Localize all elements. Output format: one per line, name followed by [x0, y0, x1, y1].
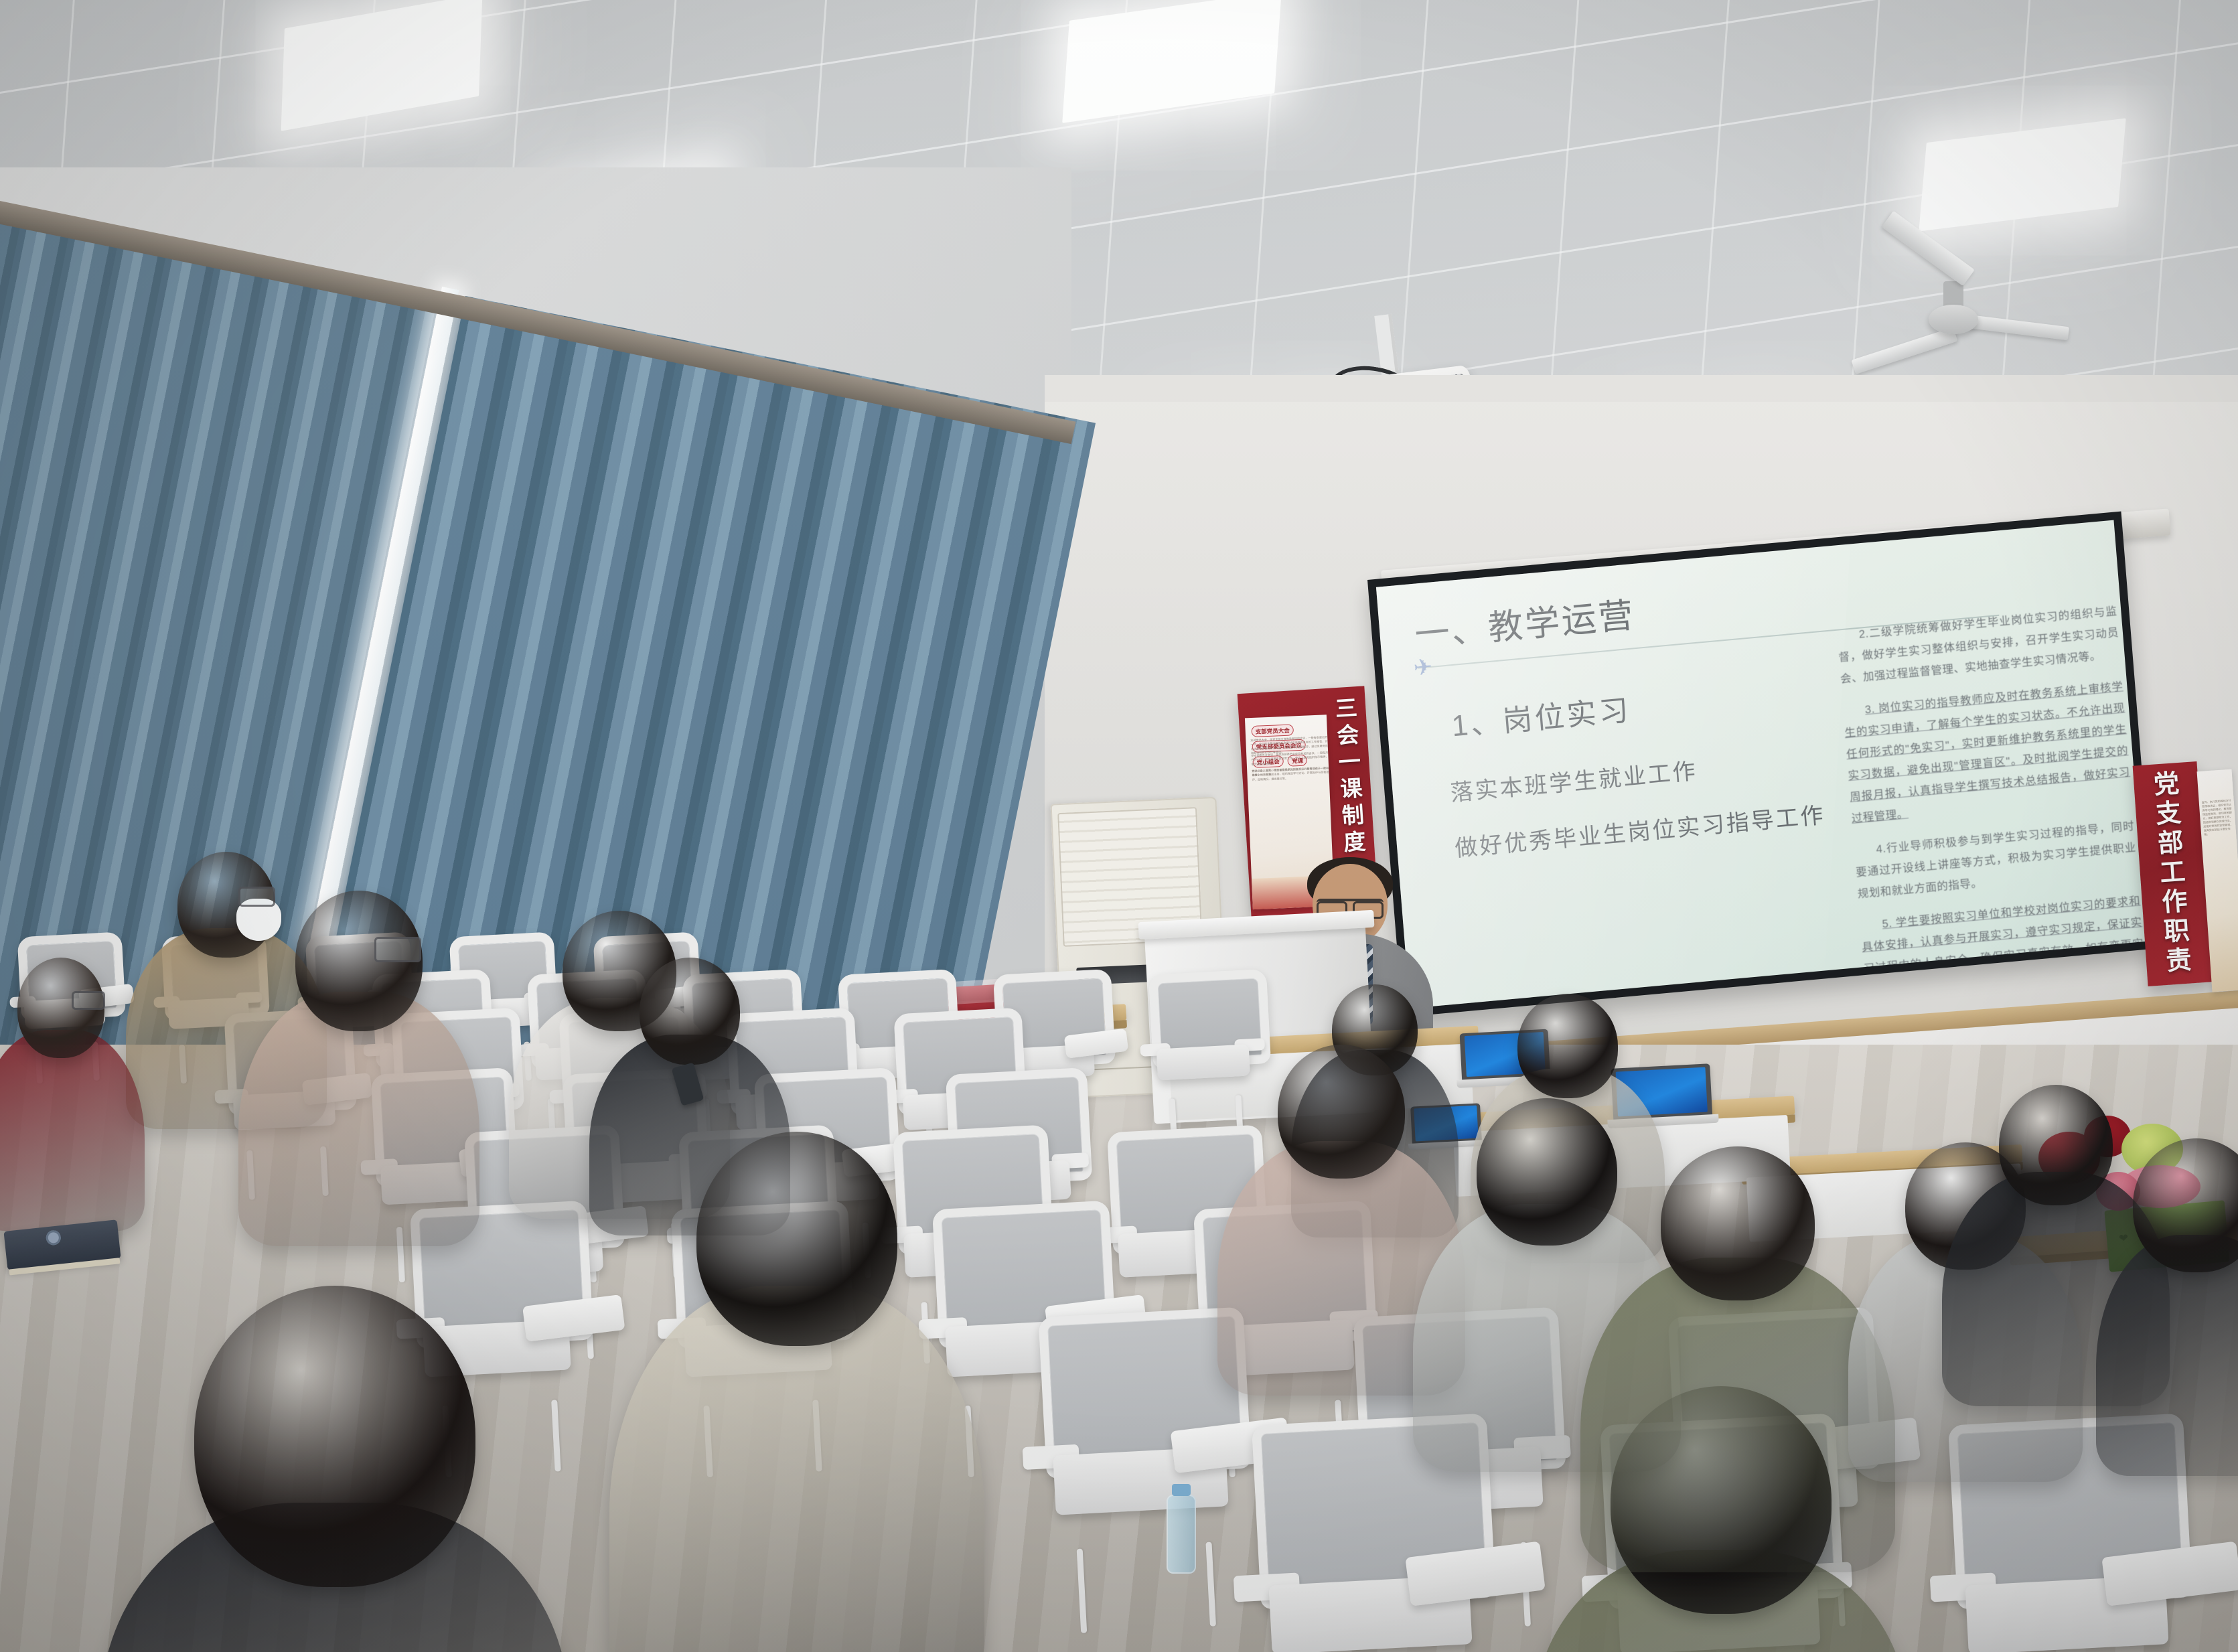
attendee-woman-red-coat — [0, 958, 145, 1259]
banner-right-body: 宣传、执行党的路线方针政策和决议，组织党员认真学习党的理论，教育管理监督党员，密… — [2197, 769, 2237, 837]
projection-screen-frame: 一、教学运营 ✈ 1、岗位实习 落实本班学生就业工作 做好优秀毕业生岗位实习指导… — [1367, 512, 2156, 1017]
ceiling-fan-hub — [1929, 305, 1978, 334]
notebook-emblem-icon — [46, 1229, 62, 1246]
attendee-head-hair — [1517, 994, 1618, 1098]
bottle-cap — [1172, 1484, 1191, 1496]
slide-right-para: 4.行业导师积极参与到学生实习过程的指导，同时要通过开设线上讲座等方式，积极为实… — [1854, 815, 2139, 905]
presentation-slide: 一、教学运营 ✈ 1、岗位实习 落实本班学生就业工作 做好优秀毕业生岗位实习指导… — [1376, 520, 2148, 1008]
glasses-icon — [72, 991, 105, 1010]
attendee-head-hair — [1661, 1146, 1815, 1300]
classroom-meeting-photo: 一、教学运营 ✈ 1、岗位实习 落实本班学生就业工作 做好优秀毕业生岗位实习指导… — [0, 0, 2238, 1652]
glasses-icon — [374, 937, 422, 962]
attendee-torso — [2096, 1235, 2238, 1476]
slide-right-para: 3. 岗位实习的指导教师应及时在教务系统上审核学生的实习申请，了解每个学生的实习… — [1842, 676, 2133, 830]
attendee-head-hair — [1278, 1045, 1405, 1179]
attendee-far-right-dark — [2096, 1138, 2238, 1513]
attendee-head-hair — [696, 1132, 897, 1346]
water-bottle[interactable] — [1167, 1495, 1196, 1574]
slide-right-column: 2.二级学院统筹做好学生毕业岗位实习的组织与监督，做好学生实习整体组织与安排，召… — [1836, 601, 2148, 1008]
back-wall-top-strip — [1045, 375, 2238, 402]
attendee-torso — [0, 1030, 145, 1231]
chair[interactable] — [1039, 1308, 1239, 1565]
banner-right-title: 党支部工作职责 — [2142, 769, 2195, 978]
banner-section-caption: 支部党员大会 — [1251, 724, 1294, 737]
attendee-foreground-ponytail — [100, 1286, 569, 1652]
attendee-head-hair — [2133, 1138, 2238, 1272]
projection-screen-surface: 一、教学运营 ✈ 1、岗位实习 落实本班学生就业工作 做好优秀毕业生岗位实习指导… — [1376, 520, 2148, 1008]
attendee-head-hair — [640, 958, 740, 1065]
attendee-foreground-bun — [609, 1132, 984, 1652]
paper-plane-icon: ✈ — [1412, 656, 1433, 680]
banner-section-body: 党支部委员会会议，是党支部委员会成员参加的会议，一般每月召开一次，研究部署支部日… — [1251, 751, 1329, 767]
attendee-head-hair — [194, 1286, 475, 1587]
attendee-woman-ponytail-pink-coat — [238, 891, 479, 1286]
